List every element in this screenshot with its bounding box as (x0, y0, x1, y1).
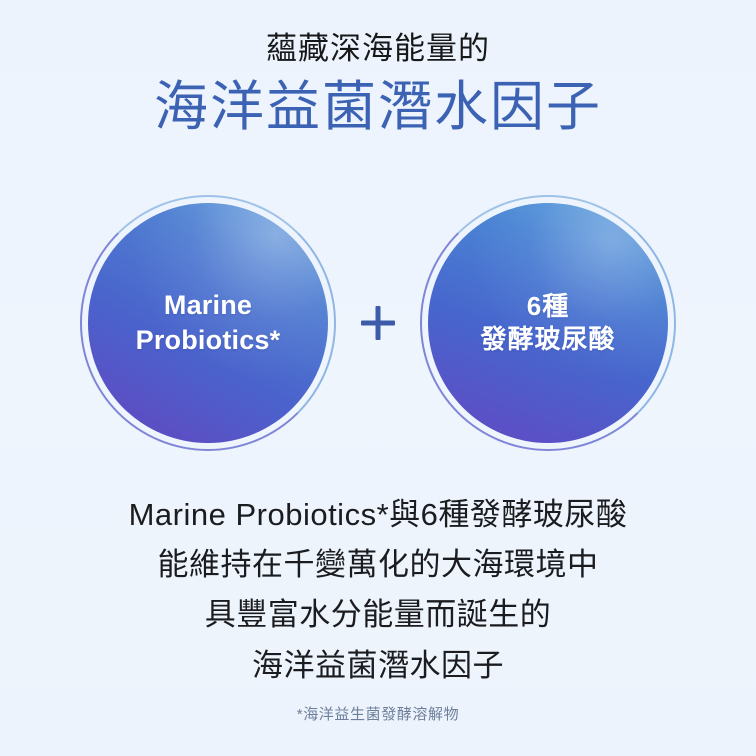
body-line: 具豐富水分能量而誕生的 (0, 590, 756, 640)
ingredient-orb-fermented-hyaluronic-acid: 6種 發酵玻尿酸 (420, 195, 676, 451)
page-title: 海洋益菌潛水因子 (0, 75, 756, 140)
body-line: 海洋益菌潛水因子 (0, 641, 756, 691)
promo-page: 蘊藏深海能量的 海洋益菌潛水因子 Marine Probiotics* 6種 發… (0, 0, 756, 756)
orb-label-left-line1: Marine (136, 288, 281, 323)
orb-label-left: Marine Probiotics* (122, 288, 295, 357)
orb-label-right-line1: 6種 (480, 290, 615, 323)
orb-body-left: Marine Probiotics* (88, 203, 328, 443)
orb-label-left-line2: Probiotics* (136, 323, 281, 358)
footnote: *海洋益生菌發酵溶解物 (0, 703, 756, 724)
orb-label-right-line2: 發酵玻尿酸 (480, 323, 615, 356)
ingredient-orb-marine-probiotics: Marine Probiotics* (80, 195, 336, 451)
orb-label-right: 6種 發酵玻尿酸 (466, 290, 629, 357)
header-kicker: 蘊藏深海能量的 (0, 30, 756, 69)
page-header: 蘊藏深海能量的 海洋益菌潛水因子 (0, 30, 756, 140)
plus-icon (336, 281, 420, 365)
ingredient-circles-row: Marine Probiotics* 6種 發酵玻尿酸 (0, 192, 756, 454)
body-line: 能維持在千變萬化的大海環境中 (0, 540, 756, 590)
orb-body-right: 6種 發酵玻尿酸 (428, 203, 668, 443)
body-copy: Marine Probiotics*與6種發酵玻尿酸 能維持在千變萬化的大海環境… (0, 490, 756, 691)
body-line: Marine Probiotics*與6種發酵玻尿酸 (0, 490, 756, 540)
